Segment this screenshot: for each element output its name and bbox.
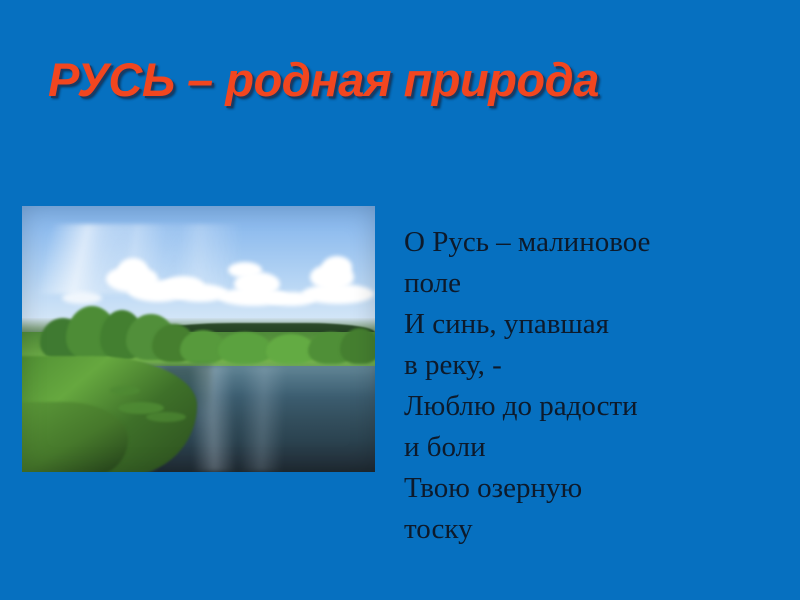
poem-line: О Русь – малиновое: [404, 222, 764, 263]
poem-text-block: О Русь – малиновое поле И синь, упавшая …: [404, 222, 764, 550]
poem-line: в реку, -: [404, 345, 764, 386]
poem-line: Люблю до радости: [404, 386, 764, 427]
poem-line: и боли: [404, 427, 764, 468]
river-landscape-photo[interactable]: [22, 206, 375, 472]
presentation-slide: РУСЬ – родная природа: [0, 0, 800, 600]
photo-vignette: [22, 206, 375, 472]
poem-line: поле: [404, 263, 764, 304]
poem-line: Твою озерную: [404, 468, 764, 509]
poem-line: И синь, упавшая: [404, 304, 764, 345]
poem-line: тоску: [404, 509, 764, 550]
slide-title: РУСЬ – родная природа: [48, 52, 748, 108]
